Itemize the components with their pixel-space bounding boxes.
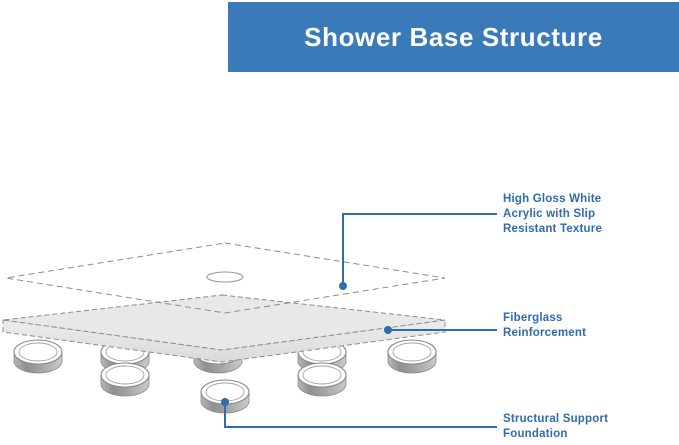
callout-label-support: Structural Support Foundation [503, 412, 608, 442]
diagram-page: Shower Base Structure [0, 0, 679, 445]
callout-label-fiberglass: Fiberglass Reinforcement [503, 311, 586, 341]
support-ring [14, 340, 62, 373]
support-ring [101, 363, 149, 396]
support-ring [388, 340, 436, 373]
drain-opening [207, 272, 243, 282]
support-ring [298, 363, 346, 396]
callout-label-acrylic: High Gloss White Acrylic with Slip Resis… [503, 192, 602, 237]
leader-line-support [221, 398, 497, 427]
leader-line-acrylic [339, 214, 497, 290]
fiberglass-slab [3, 295, 445, 362]
